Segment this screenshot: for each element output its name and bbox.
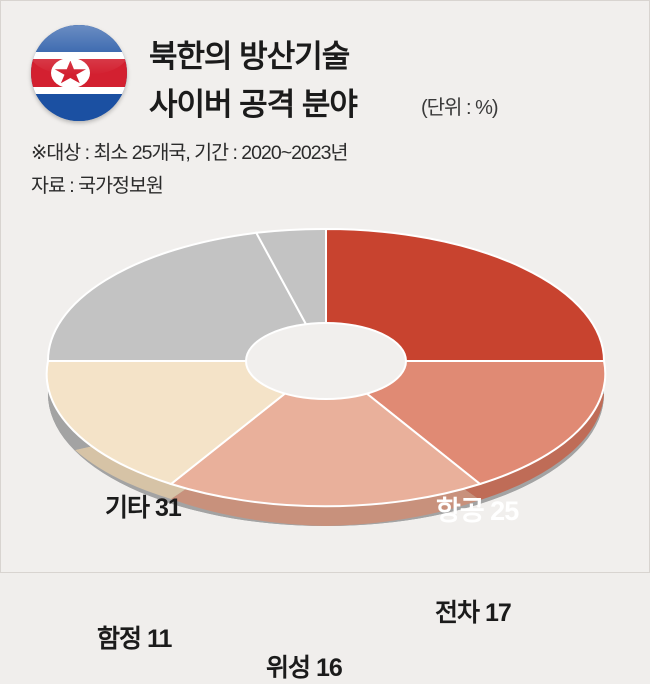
slice-label-etc: 기타 31 (105, 488, 181, 524)
source-note-line1: ※대상 : 최소 25개국, 기간 : 2020~2023년 (31, 136, 347, 165)
infographic-page: 북한의 방산기술 사이버 공격 분야 (단위 : %) ※대상 : 최소 25개… (0, 0, 650, 573)
slice-label-ship: 함정 11 (97, 619, 171, 655)
slice-label-satellite: 위성 16 (266, 648, 342, 684)
flag-band-top (31, 25, 127, 52)
flag-band-white-upper (31, 52, 127, 59)
slice-label-tank: 전차 17 (435, 593, 511, 629)
chart-top-face (47, 229, 606, 506)
header: 북한의 방산기술 사이버 공격 분야 (단위 : %) ※대상 : 최소 25개… (1, 1, 650, 211)
donut-chart: 항공 25 전차 17 위성 16 함정 11 기타 31 (1, 201, 650, 561)
slice-label-air: 항공 25 (436, 489, 518, 528)
north-korea-flag-icon (31, 25, 127, 121)
page-title-line1: 북한의 방산기술 (149, 31, 349, 76)
flag-band-bottom (31, 94, 127, 121)
source-note-line2: 자료 : 국가정보원 (31, 169, 163, 198)
flag-band-white-lower (31, 87, 127, 94)
page-title-line2: 사이버 공격 분야 (149, 79, 357, 124)
unit-label: (단위 : %) (421, 91, 498, 120)
donut-chart-svg (1, 201, 650, 561)
donut-hole (246, 323, 406, 399)
